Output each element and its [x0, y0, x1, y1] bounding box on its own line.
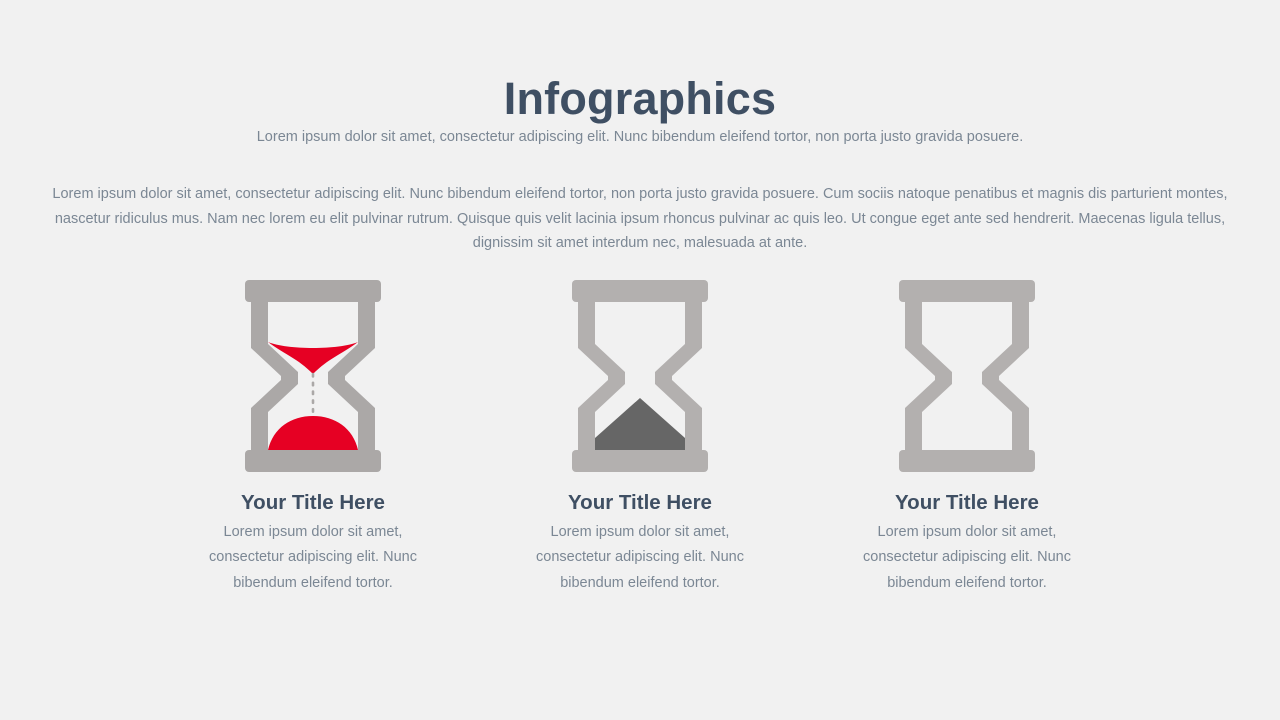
column-1[interactable]: Your Title Here Lorem ipsum dolor sit am…	[150, 278, 477, 596]
hourglass-icon-gray-sand	[570, 278, 710, 474]
column-3[interactable]: Your Title Here Lorem ipsum dolor sit am…	[804, 278, 1131, 596]
column-2[interactable]: Your Title Here Lorem ipsum dolor sit am…	[477, 278, 804, 596]
columns-container: Your Title Here Lorem ipsum dolor sit am…	[0, 278, 1280, 596]
card-body: Lorem ipsum dolor sit amet, consectetur …	[852, 520, 1082, 596]
infographic-slide: Infographics Lorem ipsum dolor sit amet,…	[0, 0, 1280, 720]
card-body: Lorem ipsum dolor sit amet, consectetur …	[198, 520, 428, 596]
hourglass-icon-empty	[897, 278, 1037, 474]
card-title: Your Title Here	[895, 489, 1039, 517]
hourglass-icon-red-sand	[243, 278, 383, 474]
card-body: Lorem ipsum dolor sit amet, consectetur …	[525, 520, 755, 596]
intro-paragraph: Lorem ipsum dolor sit amet, consectetur …	[50, 182, 1230, 256]
page-subtitle: Lorem ipsum dolor sit amet, consectetur …	[0, 127, 1280, 147]
page-title: Infographics	[0, 70, 1280, 128]
card-title: Your Title Here	[241, 489, 385, 517]
card-title: Your Title Here	[568, 489, 712, 517]
